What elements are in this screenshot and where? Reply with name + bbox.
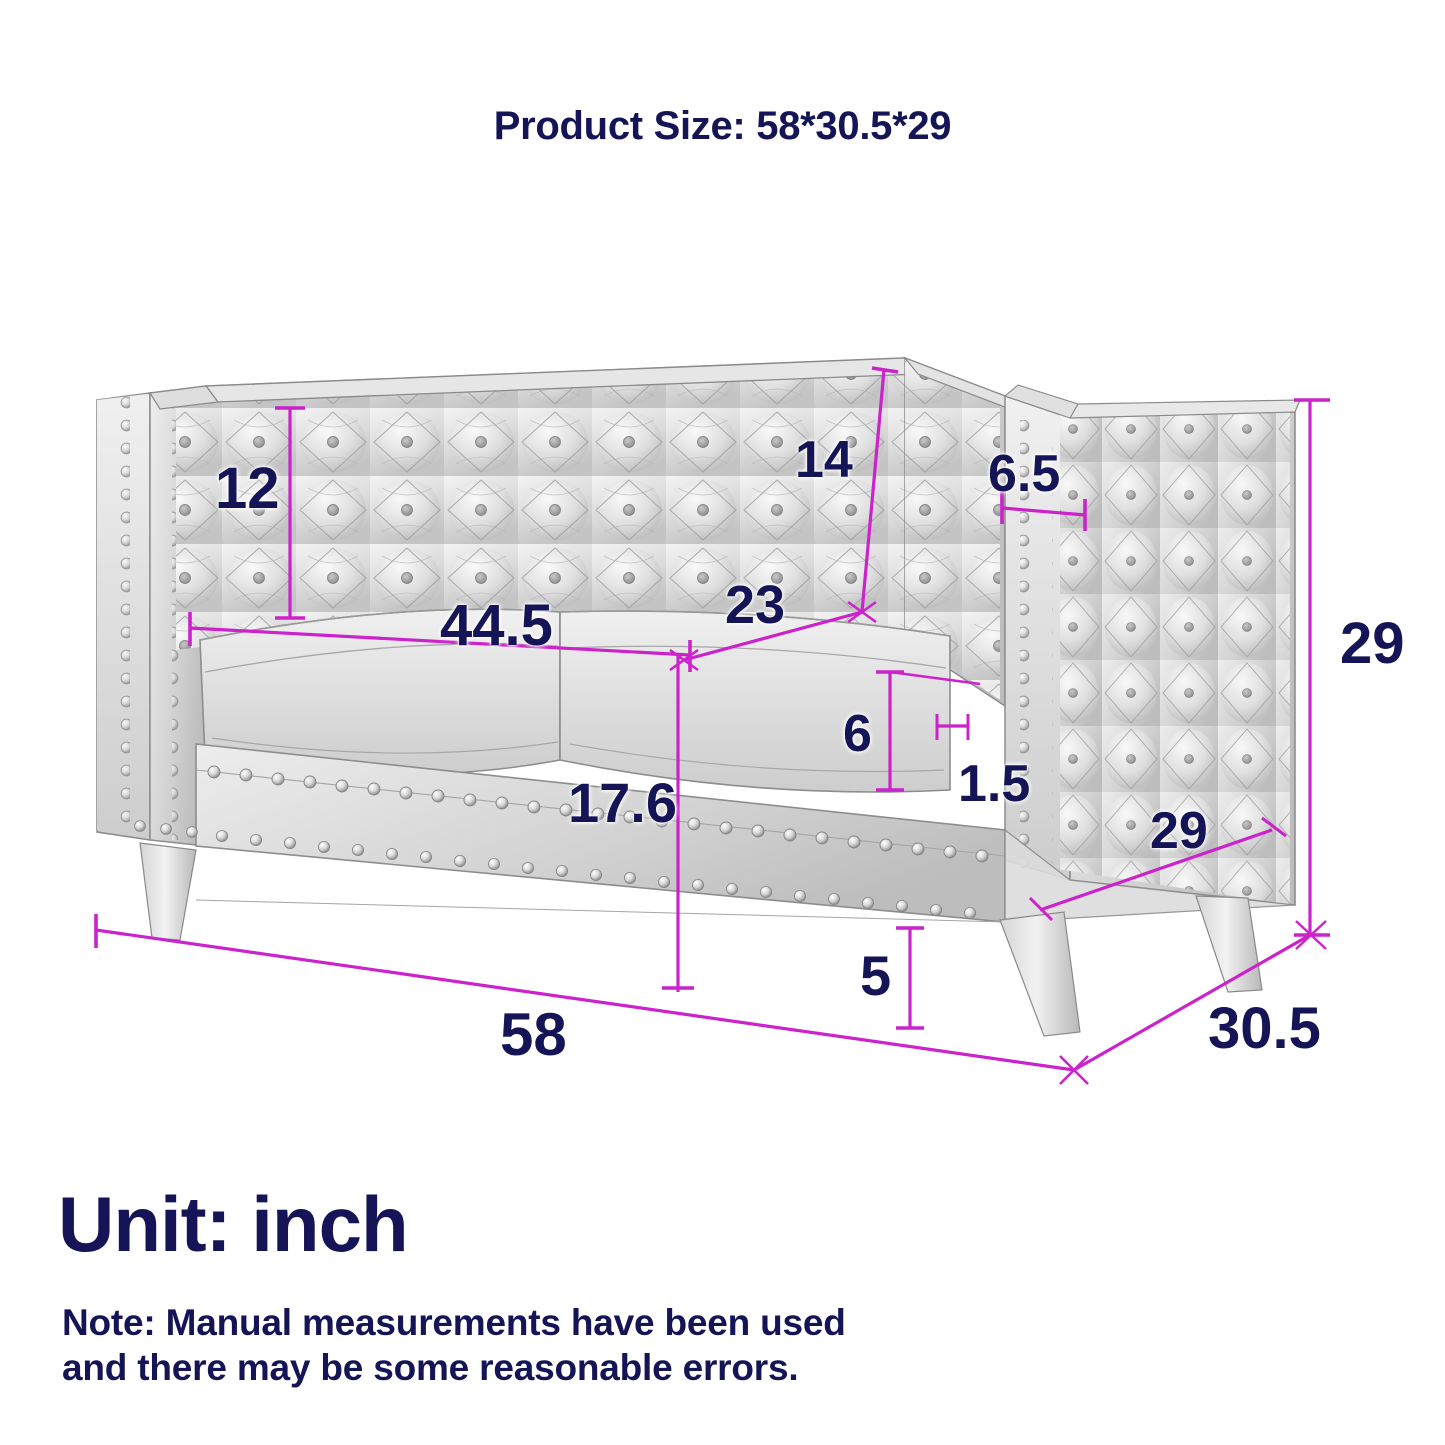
dimension-label-overall-width: 58: [500, 1005, 567, 1065]
dimline-overall-width: [96, 914, 1088, 1084]
dimension-label-arm-width: 6.5: [988, 448, 1060, 500]
dimension-label-cushion-thickness: 6: [843, 708, 872, 760]
dimline-overall-height: [1294, 400, 1330, 949]
dimline-leg-height: [896, 928, 924, 1028]
dimension-label-arm-gap: 1.5: [958, 758, 1030, 810]
dimension-label-leg-height: 5: [860, 948, 891, 1004]
dimension-label-overall-depth: 30.5: [1208, 1000, 1321, 1058]
dimension-label-backrest-height: 14: [795, 434, 853, 486]
diagram-canvas: Product Size: 58*30.5*29: [0, 0, 1445, 1445]
dimension-label-seat-height: 17.6: [568, 775, 677, 831]
dimension-label-side-depth: 29: [1150, 805, 1208, 857]
dimension-label-seat-depth: 23: [725, 578, 785, 632]
unit-label: Unit: inch: [58, 1185, 408, 1263]
dimension-label-seat-cushion-width: 44.5: [440, 597, 553, 655]
sofa-illustration: [97, 350, 1310, 1036]
dimension-label-overall-height: 29: [1340, 615, 1405, 673]
dimension-label-back-cushion-height: 12: [215, 460, 280, 518]
measurement-note: Note: Manual measurements have been used…: [62, 1300, 846, 1390]
